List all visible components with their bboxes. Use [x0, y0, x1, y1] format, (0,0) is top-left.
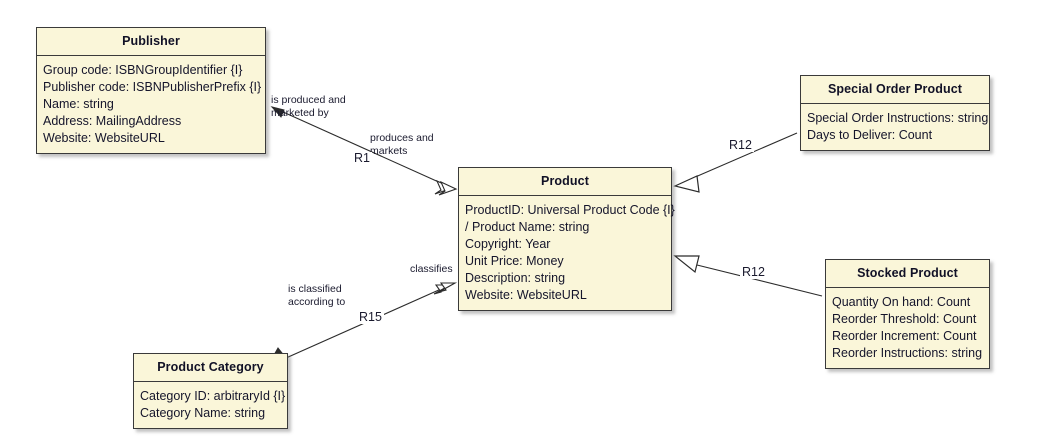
class-box-publisher[interactable]: Publisher Group code: ISBNGroupIdentifie…	[36, 27, 266, 154]
class-title-stocked-product: Stocked Product	[826, 260, 989, 288]
attribute-row: / Product Name: string	[459, 219, 671, 236]
class-box-special-order-product[interactable]: Special Order Product Special Order Inst…	[800, 75, 990, 151]
attribute-row: Group code: ISBNGroupIdentifier {I}	[37, 62, 265, 79]
class-attributes-product-category: Category ID: arbitraryId {I} Category Na…	[134, 382, 287, 428]
class-attributes-publisher: Group code: ISBNGroupIdentifier {I} Publ…	[37, 56, 265, 153]
attribute-row: Quantity On hand: Count	[826, 294, 989, 311]
edge-label-line: is produced and	[271, 94, 346, 107]
attribute-row: Description: string	[459, 270, 671, 287]
class-title-special-order-product: Special Order Product	[801, 76, 989, 104]
class-box-stocked-product[interactable]: Stocked Product Quantity On hand: Count …	[825, 259, 990, 369]
attribute-row: Days to Deliver: Count	[801, 127, 989, 144]
class-attributes-product: ProductID: Universal Product Code {I} / …	[459, 196, 671, 310]
edge-label-line: according to	[288, 296, 345, 309]
edge-label-line: produces and	[370, 132, 434, 145]
attribute-row: Reorder Threshold: Count	[826, 311, 989, 328]
edge-label-line: markets	[370, 145, 434, 158]
attribute-row: Publisher code: ISBNPublisherPrefix {I}	[37, 79, 265, 96]
edge-label-line: marketed by	[271, 107, 346, 120]
attribute-row: Reorder Instructions: string	[826, 345, 989, 362]
edge-label-r15-source-phrase: is classified according to	[288, 283, 345, 309]
edge-r12-special-generalization-triangle	[675, 176, 699, 192]
attribute-row: Address: MailingAddress	[37, 113, 265, 130]
attribute-row: Category ID: arbitraryId {I}	[134, 388, 287, 405]
class-attributes-stocked-product: Quantity On hand: Count Reorder Threshol…	[826, 288, 989, 368]
attribute-row: Unit Price: Money	[459, 253, 671, 270]
diagram-canvas: Publisher Group code: ISBNGroupIdentifie…	[0, 0, 1042, 445]
attribute-row: Website: WebsiteURL	[459, 287, 671, 304]
attribute-row: Category Name: string	[134, 405, 287, 422]
attribute-row: Website: WebsiteURL	[37, 130, 265, 147]
edge-label-line: classifies	[410, 263, 453, 276]
class-attributes-special-order-product: Special Order Instructions: string Days …	[801, 104, 989, 150]
class-title-publisher: Publisher	[37, 28, 265, 56]
attribute-row: ProductID: Universal Product Code {I}	[459, 202, 671, 219]
edge-label-r1-target-phrase: produces and markets	[370, 132, 434, 158]
class-box-product[interactable]: Product ProductID: Universal Product Cod…	[458, 167, 672, 311]
attribute-row: Name: string	[37, 96, 265, 113]
attribute-row: Copyright: Year	[459, 236, 671, 253]
edge-label-r1-source-phrase: is produced and marketed by	[271, 94, 346, 120]
class-box-product-category[interactable]: Product Category Category ID: arbitraryI…	[133, 353, 288, 429]
class-title-product-category: Product Category	[134, 354, 287, 382]
attribute-row: Reorder Increment: Count	[826, 328, 989, 345]
edge-label-line: is classified	[288, 283, 345, 296]
edge-label-r12-stocked-id[interactable]: R12	[740, 266, 767, 279]
edge-label-r1-id[interactable]: R1	[352, 152, 372, 165]
edge-r12-stocked-generalization-triangle	[675, 256, 699, 272]
edge-label-r15-id[interactable]: R15	[357, 311, 384, 324]
edge-label-r15-target-phrase: classifies	[410, 263, 453, 276]
class-title-product: Product	[459, 168, 671, 196]
attribute-row: Special Order Instructions: string	[801, 110, 989, 127]
edge-label-r12-special-id[interactable]: R12	[727, 139, 754, 152]
